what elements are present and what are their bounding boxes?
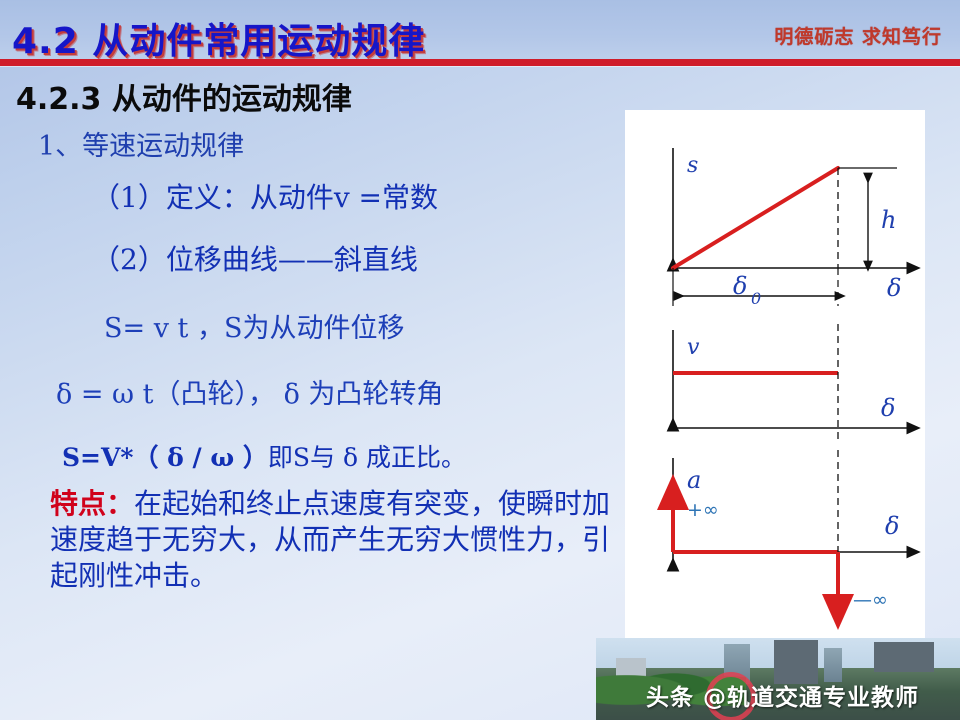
slide-canvas: 4.2 从动件常用运动规律 明德砺志 求知笃行 4.2.3 从动件的运动规律 1… [0, 0, 960, 720]
displacement-y-axis-label: s [687, 153, 698, 178]
definition-line-2: （2）位移曲线——斜直线 [92, 238, 418, 278]
watermark-text: 头条 @轨道交通专业教师 [646, 678, 919, 712]
feature-paragraph: 特点：在起始和终止点速度有突变，使瞬时加速度趋于无穷大，从而产生无穷大惯性力，引… [50, 486, 630, 594]
chart-acceleration: a δ +∞ —∞ [673, 450, 908, 611]
feature-body: 在起始和终止点速度有突变，使瞬时加速度趋于无穷大，从而产生无穷大惯性力，引起刚性… [50, 487, 610, 592]
definition-line-1: （1）定义：从动件v =常数 [92, 176, 438, 216]
kinematic-diagram-panel: s δ h δ 0 v δ [625, 110, 925, 638]
list-item-uniform-motion: 1、等速运动规律 [38, 124, 244, 163]
displacement-x-axis-label: δ [887, 274, 901, 302]
section-heading: 4.2.3 从动件的运动规律 [16, 74, 352, 118]
equation-displacement: S= v t ，S为从动件位移 [104, 306, 404, 345]
feature-label: 特点： [50, 487, 134, 520]
equation-cam-angle: δ = ω t（凸轮）， δ 为凸轮转角 [56, 372, 443, 411]
page-title: 4.2 从动件常用运动规律 [12, 12, 425, 64]
velocity-x-axis-label: δ [881, 394, 895, 422]
span-label: δ [733, 272, 747, 300]
span-subscript: 0 [751, 289, 761, 308]
content-column: 4.2.3 从动件的运动规律 1、等速运动规律 （1）定义：从动件v =常数 （… [0, 66, 640, 666]
rise-label: h [881, 206, 896, 234]
chart-velocity: v δ [673, 324, 908, 440]
acceleration-x-axis-label: δ [885, 512, 899, 540]
displacement-curve [673, 168, 838, 268]
positive-infinity-label: +∞ [687, 499, 719, 521]
kinematic-diagram-svg: s δ h δ 0 v δ [625, 110, 925, 638]
chart-displacement: s δ h δ 0 [673, 148, 908, 308]
equation-proportion-formula: S=V*（ δ / ω ） [62, 443, 268, 472]
photo-building-3 [824, 648, 842, 682]
footer-campus-photo: 头条 @轨道交通专业教师 [596, 638, 960, 720]
photo-building-4 [874, 642, 934, 672]
acceleration-y-axis-label: a [687, 466, 701, 494]
header-divider [0, 59, 960, 66]
school-motto: 明德砺志 求知笃行 [774, 22, 942, 49]
negative-infinity-label: —∞ [853, 589, 888, 611]
equation-proportion-text: 即S与 δ 成正比。 [268, 443, 466, 472]
velocity-y-axis-label: v [687, 335, 700, 360]
equation-proportion: S=V*（ δ / ω ）即S与 δ 成正比。 [62, 438, 466, 474]
